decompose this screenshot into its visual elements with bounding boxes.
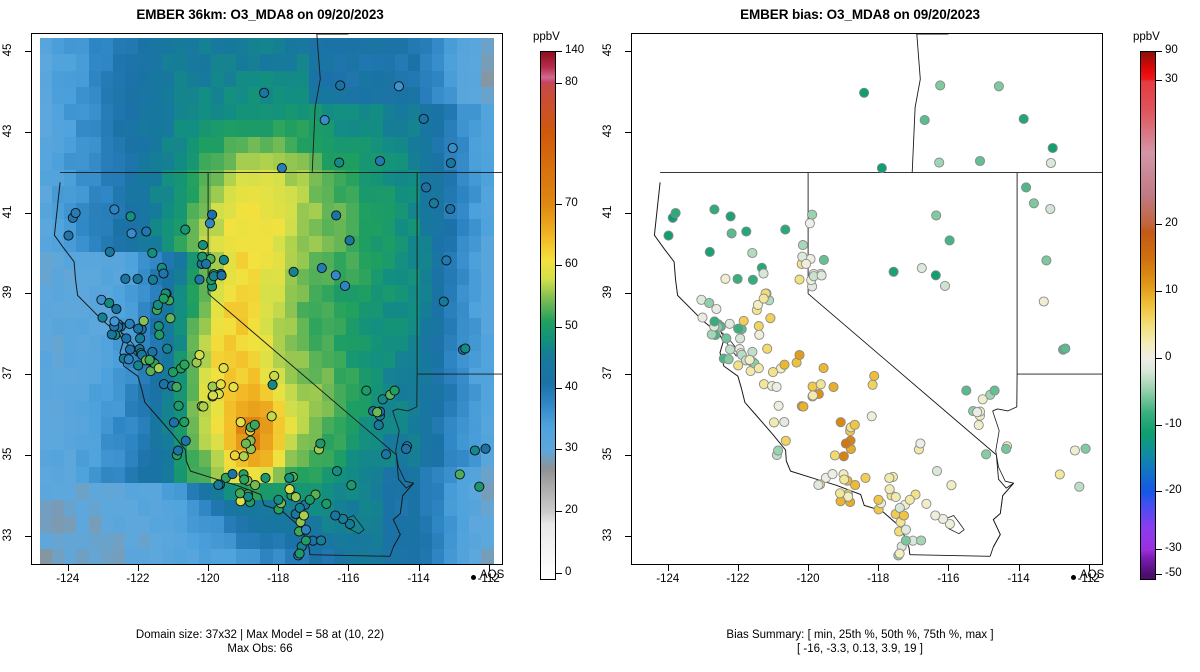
map-clip-model [32,34,502,564]
aqs-station-marker[interactable] [429,199,438,208]
aqs-station-marker[interactable] [71,208,80,217]
aqs-station-marker[interactable] [973,408,982,417]
y-tick [25,455,31,456]
aqs-station-marker[interactable] [710,317,719,326]
aqs-station-marker[interactable] [205,219,214,228]
aqs-station-marker[interactable] [208,210,217,219]
aqs-station-marker[interactable] [419,114,428,123]
aqs-station-marker[interactable] [127,229,136,238]
colorbar-tick [556,51,562,52]
aqs-station-marker[interactable] [994,82,1003,91]
aqs-station-marker[interactable] [734,324,743,333]
aqs-station-marker[interactable] [228,470,237,479]
aqs-station-marker[interactable] [795,350,804,359]
aqs-station-marker[interactable] [748,248,757,257]
aqs-station-marker[interactable] [932,467,941,476]
aqs-station-marker[interactable] [861,473,870,482]
aqs-station-marker[interactable] [214,480,223,489]
y-tick-label: 35 [2,439,14,469]
aqs-station-marker[interactable] [448,143,457,152]
aqs-station-marker[interactable] [1075,482,1084,491]
aqs-station-marker[interactable] [285,485,294,494]
aqs-station-marker[interactable] [475,482,484,491]
aqs-station-marker[interactable] [772,382,781,391]
aqs-station-marker[interactable] [722,334,731,343]
aqs-station-marker[interactable] [916,439,925,448]
aqs-station-marker[interactable] [780,417,789,426]
aqs-station-marker[interactable] [830,451,839,460]
aqs-station-marker[interactable] [174,401,183,410]
y-tick-label: 35 [602,439,614,469]
aqs-station-marker[interactable] [195,275,204,284]
aqs-station-marker[interactable] [947,481,956,490]
aqs-station-marker[interactable] [110,317,119,326]
y-tick [625,293,631,294]
x-tick-label: -116 [928,573,968,585]
colorbar-gradient-model [540,51,556,580]
aqs-station-marker[interactable] [134,361,143,370]
aqs-station-marker[interactable] [110,205,119,214]
panel-title-bias: EMBER bias: O3_MDA8 on 09/20/2023 [600,7,1120,22]
aqs-station-marker[interactable] [159,380,168,389]
y-tick [625,132,631,133]
aqs-station-marker[interactable] [198,241,207,250]
aqs-station-marker[interactable] [301,536,310,545]
y-tick-label: 43 [2,116,14,146]
aqs-station-marker[interactable] [336,81,345,90]
aqs-station-marker[interactable] [798,241,807,250]
aqs-station-marker[interactable] [235,489,244,498]
aqs-station-marker[interactable] [295,549,304,558]
aqs-station-marker[interactable] [705,247,714,256]
aqs-station-marker[interactable] [769,418,778,427]
aqs-station-marker[interactable] [841,439,850,448]
aqs-legend-label-bias: AQS [1080,569,1104,581]
x-tick-label: -114 [999,573,1039,585]
aqs-station-marker[interactable] [877,164,886,173]
aqs-station-marker[interactable] [932,211,941,220]
x-tick-label: -120 [788,573,828,585]
aqs-station-marker[interactable] [742,227,751,236]
aqs-station-marker[interactable] [291,493,300,502]
aqs-legend-label-model: AQS [480,569,504,581]
aqs-station-marker[interactable] [148,248,157,257]
aqs-station-marker[interactable] [394,82,403,91]
aqs-station-marker[interactable] [808,391,817,400]
aqs-station-marker[interactable] [726,345,735,354]
aqs-station-marker[interactable] [725,319,734,328]
colorbar-tick [556,511,562,512]
aqs-station-marker[interactable] [240,475,249,484]
aqs-station-marker[interactable] [1019,114,1028,123]
aqs-station-marker[interactable] [124,355,133,364]
aqs-station-marker[interactable] [229,383,238,392]
aqs-station-marker[interactable] [322,499,331,508]
aqs-station-marker[interactable] [874,495,883,504]
aqs-station-marker[interactable] [759,294,768,303]
aqs-station-marker[interactable] [724,355,733,364]
colorbar-tick-label: 30 [565,442,578,454]
aqs-station-marker[interactable] [121,274,130,283]
colorbar-tick [1156,425,1162,426]
aqs-station-marker[interactable] [105,247,114,256]
aqs-station-marker[interactable] [885,485,894,494]
y-tick [625,374,631,375]
aqs-station-marker[interactable] [931,271,940,280]
aqs-station-marker[interactable] [126,345,135,354]
aqs-station-marker[interactable] [962,386,971,395]
aqs-station-marker[interactable] [895,549,904,558]
aqs-station-marker[interactable] [748,275,757,284]
aqs-station-marker[interactable] [763,344,772,353]
aqs-station-marker[interactable] [1046,204,1055,213]
aqs-station-marker[interactable] [990,386,999,395]
aqs-station-marker[interactable] [936,81,945,90]
aqs-station-marker[interactable] [122,334,131,343]
colorbar-tick [556,573,562,574]
x-tick [948,565,949,571]
aqs-station-marker[interactable] [166,314,175,323]
aqs-station-marker[interactable] [816,380,825,389]
aqs-station-marker[interactable] [940,281,949,290]
aqs-station-marker[interactable] [446,158,455,167]
colorbar-tick-label: 20 [565,504,578,516]
aqs-station-marker[interactable] [664,231,673,240]
aqs-station-marker[interactable] [1002,444,1011,453]
aqs-station-marker[interactable] [917,264,926,273]
y-tick [25,536,31,537]
aqs-station-marker[interactable] [698,313,707,322]
aqs-station-marker[interactable] [774,446,783,455]
y-tick-label: 41 [2,197,14,227]
colorbar-tick-label: 70 [565,197,578,209]
aqs-station-marker[interactable] [766,314,775,323]
aqs-station-marker[interactable] [1055,470,1064,479]
colorbar-tick-label: 10 [1165,284,1178,296]
aqs-station-marker[interactable] [230,451,239,460]
aqs-station-marker[interactable] [267,412,276,421]
aqs-station-marker[interactable] [781,436,790,445]
aqs-station-marker[interactable] [181,436,190,445]
aqs-station-marker[interactable] [317,536,326,545]
aqs-station-marker[interactable] [974,421,983,430]
aqs-station-marker[interactable] [734,361,743,370]
aqs-station-marker[interactable] [829,383,838,392]
aqs-station-marker[interactable] [331,271,340,280]
aqs-station-marker[interactable] [710,205,719,214]
aqs-station-marker[interactable] [727,229,736,238]
aqs-station-marker[interactable] [705,298,714,307]
y-tick-label: 45 [2,35,14,65]
aqs-station-marker[interactable] [133,274,142,283]
caption-model-line1: Domain size: 37x32 | Max Model = 58 at (… [0,628,520,642]
aqs-station-marker[interactable] [470,446,479,455]
aqs-station-marker[interactable] [340,281,349,290]
aqs-station-marker[interactable] [774,401,783,410]
aqs-station-marker[interactable] [889,267,898,276]
aqs-station-marker[interactable] [236,418,245,427]
aqs-station-marker[interactable] [172,382,181,391]
aqs-station-marker[interactable] [851,481,860,490]
aqs-station-marker[interactable] [1022,183,1031,192]
aqs-station-marker[interactable] [922,499,931,508]
aqs-station-marker[interactable] [802,259,811,268]
aqs-station-marker[interactable] [375,156,384,165]
y-tick-label: 41 [602,197,614,227]
aqs-station-marker[interactable] [154,364,163,373]
aqs-station-marker[interactable] [331,511,340,520]
aqs-station-marker[interactable] [316,439,325,448]
aqs-station-marker[interactable] [867,412,876,421]
aqs-station-marker[interactable] [982,450,991,459]
aqs-station-marker[interactable] [835,489,844,498]
aqs-station-marker[interactable] [901,525,910,534]
aqs-station-marker[interactable] [442,256,451,265]
x-tick-label: -124 [648,573,688,585]
aqs-station-marker[interactable] [1029,199,1038,208]
colorbar-tick [1156,549,1162,550]
figure-canvas: EMBER 36km: O3_MDA8 on 09/20/2023 -124-1… [0,0,1200,672]
aqs-station-marker[interactable] [169,418,178,427]
aqs-station-marker[interactable] [268,380,277,389]
aqs-station-marker[interactable] [239,452,248,461]
aqs-station-marker[interactable] [274,495,283,504]
aqs-station-marker[interactable] [332,467,341,476]
aqs-legend-dot-bias [1071,575,1076,580]
aqs-station-marker[interactable] [180,417,189,426]
aqs-station-marker[interactable] [975,156,984,165]
aqs-station-marker[interactable] [891,493,900,502]
aqs-station-marker[interactable] [860,88,869,97]
aqs-station-marker[interactable] [828,470,837,479]
aqs-station-marker[interactable] [317,264,326,273]
aqs-station-marker[interactable] [905,495,914,504]
aqs-station-marker[interactable] [142,227,151,236]
aqs-station-marker[interactable] [390,386,399,395]
aqs-station-marker[interactable] [1046,158,1055,167]
colorbar-tick-label: 140 [565,44,584,56]
y-tick [25,51,31,52]
aqs-station-marker[interactable] [159,294,168,303]
y-tick-label: 37 [2,358,14,388]
aqs-station-marker[interactable] [202,259,211,268]
aqs-station-marker[interactable] [870,371,879,380]
aqs-station-marker[interactable] [759,380,768,389]
aqs-station-marker[interactable] [935,158,944,167]
aqs-station-marker[interactable] [422,183,431,192]
aqs-station-marker[interactable] [808,382,817,391]
aqs-station-marker[interactable] [745,355,754,364]
aqs-station-marker[interactable] [299,511,308,520]
aqs-station-marker[interactable] [819,255,828,264]
x-tick-label: -122 [118,573,158,585]
aqs-station-marker[interactable] [868,380,877,389]
aqs-station-marker[interactable] [301,525,310,534]
colorbar-tick [1156,574,1162,575]
aqs-station-marker[interactable] [481,444,490,453]
y-tick-label: 43 [602,116,614,146]
aqs-station-marker[interactable] [335,158,344,167]
aqs-station-marker[interactable] [64,231,73,240]
aqs-station-marker[interactable] [217,271,226,280]
colorbar-tick [1156,291,1162,292]
y-tick [625,455,631,456]
aqs-station-marker[interactable] [145,355,154,364]
aqs-station-marker[interactable] [755,330,764,339]
aqs-station-marker[interactable] [726,212,735,221]
colorbar-tick [1156,491,1162,492]
aqs-station-marker[interactable] [817,271,826,280]
x-tick [138,565,139,571]
aqs-station-marker[interactable] [305,495,314,504]
panel-title-model: EMBER 36km: O3_MDA8 on 09/20/2023 [0,7,520,22]
aqs-station-marker[interactable] [799,402,808,411]
aqs-station-marker[interactable] [805,219,814,228]
aqs-station-marker[interactable] [285,473,294,482]
aqs-station-marker[interactable] [439,297,448,306]
aqs-station-marker[interactable] [98,313,107,322]
aqs-station-marker[interactable] [1042,256,1051,265]
aqs-station-marker[interactable] [917,536,926,545]
aqs-station-marker[interactable] [362,386,371,395]
aqs-station-marker[interactable] [134,324,143,333]
y-tick [25,374,31,375]
aqs-station-marker[interactable] [754,364,763,373]
aqs-station-marker[interactable] [125,319,134,328]
aqs-station-marker[interactable] [320,116,329,125]
aqs-station-marker[interactable] [721,274,730,283]
aqs-station-marker[interactable] [920,116,929,125]
y-tick [25,213,31,214]
aqs-station-marker[interactable] [155,330,164,339]
aqs-station-marker[interactable] [241,439,250,448]
y-tick-label: 45 [602,35,614,65]
y-tick [625,51,631,52]
aqs-station-marker[interactable] [455,470,464,479]
aqs-station-marker[interactable] [814,480,823,489]
aqs-station-marker[interactable] [850,420,859,429]
x-tick [738,565,739,571]
aqs-station-marker[interactable] [154,322,163,331]
aqs-station-marker[interactable] [885,473,894,482]
aqs-station-marker[interactable] [219,364,228,373]
x-tick-label: -118 [858,573,898,585]
aqs-station-marker[interactable] [768,368,777,377]
aqs-station-marker[interactable] [840,475,849,484]
aqs-station-marker[interactable] [181,225,190,234]
aqs-station-marker[interactable] [168,368,177,377]
aqs-station-marker[interactable] [195,350,204,359]
aqs-station-marker[interactable] [839,452,848,461]
aqs-station-marker[interactable] [250,420,259,429]
aqs-station-marker[interactable] [781,225,790,234]
plot-area-model [31,33,503,565]
x-tick [668,565,669,571]
aqs-stations-model[interactable] [32,34,502,564]
colorbar-tick [1156,80,1162,81]
aqs-station-marker[interactable] [374,421,383,430]
colorbar-gradient-bias [1140,51,1156,580]
y-tick [25,132,31,133]
aqs-station-marker[interactable] [219,255,228,264]
aqs-station-marker[interactable] [347,481,356,490]
aqs-station-marker[interactable] [1048,143,1057,152]
aqs-station-marker[interactable] [1039,297,1048,306]
x-tick [808,565,809,571]
map-clip-bias [632,34,1102,564]
aqs-station-marker[interactable] [795,275,804,284]
aqs-station-marker[interactable] [1061,344,1070,353]
y-tick-label: 33 [602,520,614,550]
x-tick [278,565,279,571]
aqs-station-marker[interactable] [1081,444,1090,453]
aqs-station-marker[interactable] [261,473,270,482]
colorbar-tick-label: 0 [1165,351,1171,363]
y-tick-label: 33 [2,520,14,550]
aqs-station-marker[interactable] [671,208,680,217]
aqs-station-marker[interactable] [126,212,135,221]
aqs-station-marker[interactable] [260,88,269,97]
aqs-station-marker[interactable] [1070,446,1079,455]
aqs-station-marker[interactable] [251,481,260,490]
aqs-station-marker[interactable] [148,275,157,284]
aqs-station-marker[interactable] [945,236,954,245]
aqs-station-marker[interactable] [759,269,768,278]
aqs-station-marker[interactable] [208,382,217,391]
colorbar-tick [1156,358,1162,359]
aqs-station-marker[interactable] [736,334,745,343]
aqs-station-marker[interactable] [199,402,208,411]
aqs-station-marker[interactable] [739,316,748,325]
caption-bias-line1: Bias Summary: [ min, 25th %, 50th %, 75t… [600,628,1120,642]
aqs-station-marker[interactable] [733,274,742,283]
aqs-station-marker[interactable] [808,210,817,219]
aqs-station-marker[interactable] [901,536,910,545]
aqs-station-marker[interactable] [931,511,940,520]
aqs-station-marker[interactable] [159,269,168,278]
aqs-station-marker[interactable] [836,418,845,427]
aqs-station-marker[interactable] [461,344,470,353]
colorbar-tick-label: 40 [565,381,578,393]
aqs-station-marker[interactable] [780,360,789,369]
aqs-station-marker[interactable] [345,236,354,245]
aqs-station-marker[interactable] [754,322,763,331]
aqs-station-marker[interactable] [136,334,145,343]
aqs-station-marker[interactable] [402,444,411,453]
aqs-station-marker[interactable] [277,164,286,173]
aqs-station-marker[interactable] [180,360,189,369]
aqs-station-marker[interactable] [446,204,455,213]
panel-model: EMBER 36km: O3_MDA8 on 09/20/2023 -124-1… [0,0,600,672]
aqs-stations-bias[interactable] [632,34,1102,564]
aqs-station-marker[interactable] [216,380,225,389]
aqs-station-marker[interactable] [289,267,298,276]
aqs-station-marker[interactable] [208,391,217,400]
aqs-station-marker[interactable] [899,511,908,520]
aqs-station-marker[interactable] [174,446,183,455]
aqs-station-marker[interactable] [382,450,391,459]
aqs-station-marker[interactable] [373,408,382,417]
aqs-station-marker[interactable] [332,211,341,220]
caption-model-line2: Max Obs: 66 [0,642,520,656]
aqs-station-marker[interactable] [139,316,148,325]
x-tick-label: -122 [718,573,758,585]
plot-area-bias [631,33,1103,565]
aqs-station-marker[interactable] [270,371,279,380]
aqs-station-marker[interactable] [819,364,828,373]
aqs-station-marker[interactable] [105,298,114,307]
aqs-station-marker[interactable] [163,344,172,353]
